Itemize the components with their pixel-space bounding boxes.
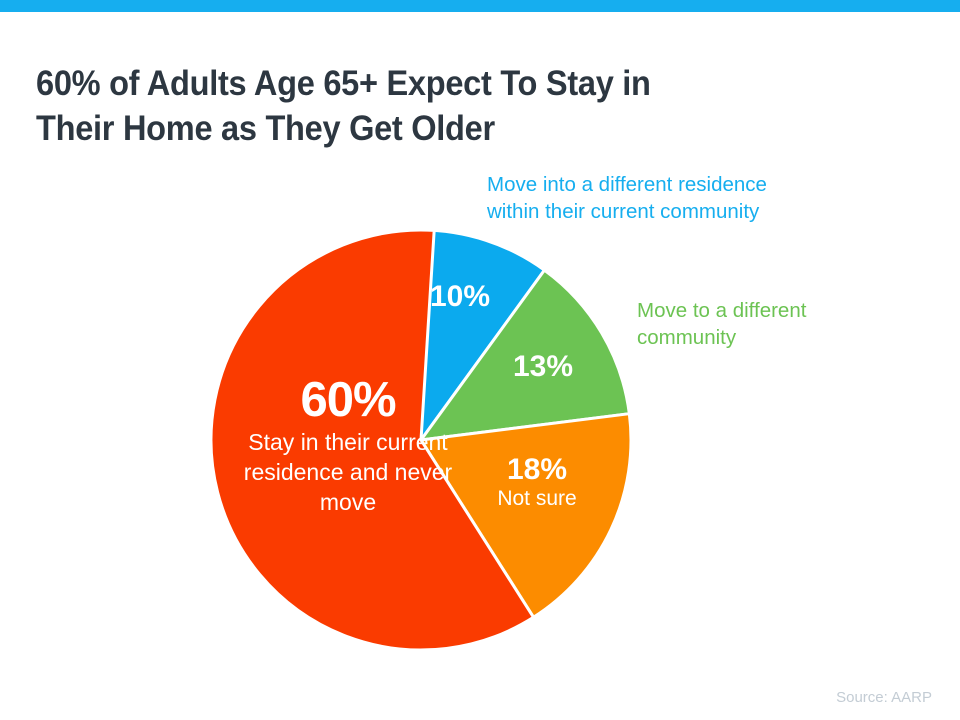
slice-label-move-different-community: 13% [483, 352, 603, 382]
slice-percent-18: 18% [473, 455, 601, 485]
slice-percent-13: 13% [483, 352, 603, 382]
callout-move-within-community: Move into a different residence within t… [487, 172, 767, 225]
slice-label-stay-in-residence: 60% Stay in their current residence and … [236, 376, 460, 518]
slice-sublabel-stay-in-residence: Stay in their current residence and neve… [236, 428, 460, 518]
slice-sublabel-not-sure: Not sure [473, 486, 601, 511]
slice-percent-60: 60% [236, 376, 460, 425]
pie-chart-svg [0, 0, 960, 720]
slice-label-not-sure: 18% Not sure [473, 455, 601, 511]
source-attribution: Source: AARP [836, 689, 932, 706]
pie-chart: Move into a different residence within t… [0, 0, 960, 720]
infographic-slide: 60% of Adults Age 65+ Expect To Stay in … [0, 0, 960, 720]
slice-percent-10: 10% [400, 282, 520, 312]
slice-label-move-within-community: 10% [400, 282, 520, 312]
callout-move-different-community: Move to a different community [637, 298, 806, 351]
